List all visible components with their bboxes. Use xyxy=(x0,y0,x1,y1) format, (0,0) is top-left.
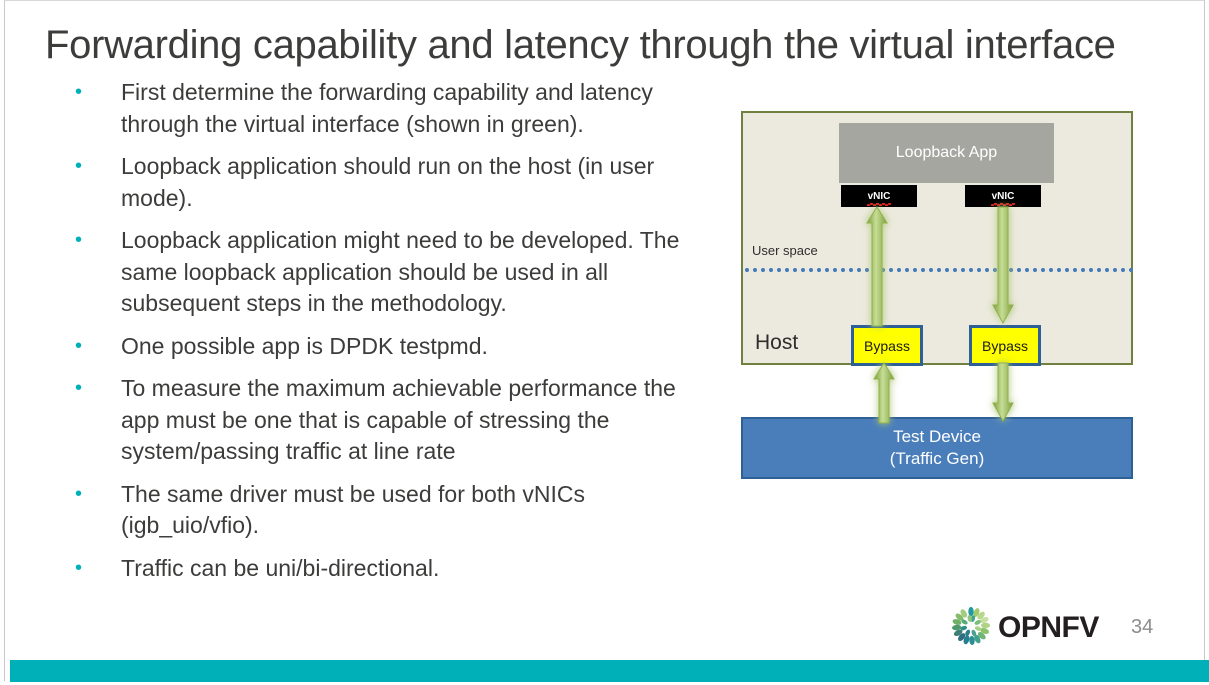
bullet-marker-icon: • xyxy=(69,331,121,361)
bullet-text: To measure the maximum achievable perfor… xyxy=(121,373,709,468)
test-device-line2: (Traffic Gen) xyxy=(890,448,984,470)
page-number: 34 xyxy=(1131,616,1153,639)
vnic-right-box: vNIC xyxy=(965,185,1041,207)
bullet-marker-icon: • xyxy=(69,373,121,403)
list-item: • One possible app is DPDK testpmd. xyxy=(69,331,709,363)
bullet-marker-icon: • xyxy=(69,77,121,107)
opnfv-wordmark: OPNFV xyxy=(998,611,1099,644)
list-item: • Loopback application might need to be … xyxy=(69,225,709,320)
bullet-list: • First determine the forwarding capabil… xyxy=(69,77,709,595)
list-item: • Traffic can be uni/bi-directional. xyxy=(69,553,709,585)
page-title: Forwarding capability and latency throug… xyxy=(45,20,1155,70)
architecture-diagram: Loopback App vNIC vNIC User space Host B… xyxy=(741,111,1135,481)
test-device-line1: Test Device xyxy=(893,426,981,448)
user-space-label: User space xyxy=(752,243,818,258)
vnic-right-label: vNIC xyxy=(992,191,1015,202)
list-item: • The same driver must be used for both … xyxy=(69,479,709,542)
bullet-marker-icon: • xyxy=(69,553,121,583)
loopback-app-box: Loopback App xyxy=(839,123,1054,183)
user-kernel-boundary-divider xyxy=(745,268,1133,272)
bullet-marker-icon: • xyxy=(69,151,121,181)
slide-frame: Forwarding capability and latency throug… xyxy=(4,0,1205,681)
host-label: Host xyxy=(755,331,798,355)
list-item: • Loopback application should run on the… xyxy=(69,151,709,214)
bullet-text: Loopback application should run on the h… xyxy=(121,151,709,214)
footer-accent-bar xyxy=(10,660,1209,682)
bullet-text: The same driver must be used for both vN… xyxy=(121,479,709,542)
host-container-box: Loopback App vNIC vNIC User space Host B… xyxy=(741,111,1133,365)
bullet-text: Traffic can be uni/bi-directional. xyxy=(121,553,709,585)
bypass-left-up-arrow xyxy=(874,363,894,423)
bullet-text: Loopback application might need to be de… xyxy=(121,225,709,320)
bullet-marker-icon: • xyxy=(69,479,121,509)
slide-canvas: Forwarding capability and latency throug… xyxy=(0,0,1209,685)
bullet-marker-icon: • xyxy=(69,225,121,255)
bypass-right-down-arrow xyxy=(993,363,1013,421)
list-item: • To measure the maximum achievable perf… xyxy=(69,373,709,468)
opnfv-petal-burst-icon xyxy=(952,607,990,645)
vnic-left-box: vNIC xyxy=(841,185,917,207)
bypass-left-box: Bypass xyxy=(851,325,923,366)
bullet-text: One possible app is DPDK testpmd. xyxy=(121,331,709,363)
vnic-left-label: vNIC xyxy=(868,191,891,202)
list-item: • First determine the forwarding capabil… xyxy=(69,77,709,140)
test-device-box: Test Device (Traffic Gen) xyxy=(741,417,1133,479)
bullet-text: First determine the forwarding capabilit… xyxy=(121,77,709,140)
opnfv-logo: OPNFV xyxy=(949,605,1115,647)
bypass-right-box: Bypass xyxy=(969,325,1041,366)
